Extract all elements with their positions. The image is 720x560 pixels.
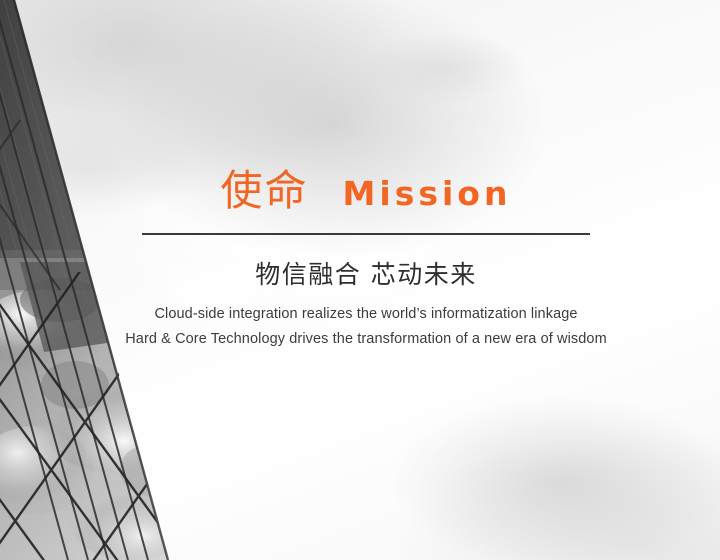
description-line-2: Hard & Core Technology drives the transf… bbox=[60, 327, 672, 352]
title-divider bbox=[142, 233, 590, 235]
mission-title: 使命 Mission bbox=[142, 170, 590, 212]
mission-subtitle-cn: 物信融合 芯动未来 bbox=[142, 258, 590, 292]
mission-banner: 使命 Mission 物信融合 芯动未来 Cloud-side integrat… bbox=[0, 0, 720, 560]
mission-title-cn: 使命 bbox=[221, 170, 309, 212]
mission-title-en: Mission bbox=[343, 177, 512, 210]
description-line-1: Cloud-side integration realizes the worl… bbox=[60, 302, 672, 327]
mission-description: Cloud-side integration realizes the worl… bbox=[60, 302, 672, 352]
banner-content: 使命 Mission 物信融合 芯动未来 Cloud-side integrat… bbox=[0, 0, 720, 560]
